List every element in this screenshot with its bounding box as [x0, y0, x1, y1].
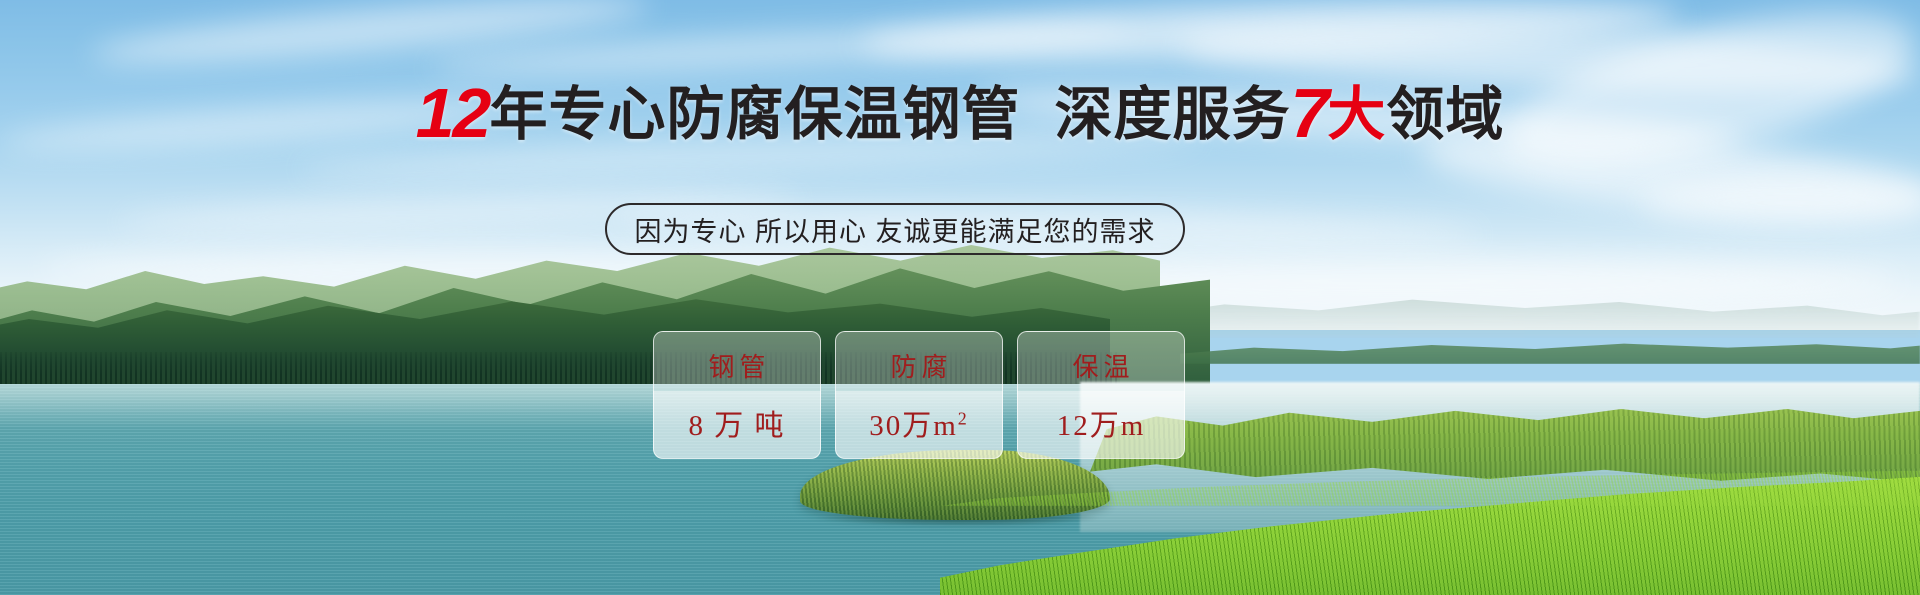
- stat-card-steel-pipe[interactable]: 钢管 8 万 吨: [653, 331, 821, 459]
- headline-text-secondary: 深度服务: [1054, 82, 1290, 147]
- sky-background: [0, 0, 1920, 330]
- stat-label: 钢管: [703, 347, 770, 384]
- hero-banner: 12年专心防腐保温钢管深度服务7大领域 因为专心 所以用心 友诚更能满足您的需求…: [0, 0, 1920, 595]
- stat-label: 防腐: [885, 347, 952, 384]
- stat-value-text: 30万m: [869, 410, 958, 442]
- headline-highlight-word: 大: [1327, 82, 1386, 147]
- headline-text-tail: 领域: [1386, 82, 1504, 147]
- stat-value: 8 万 吨: [688, 402, 785, 444]
- subtitle-text: 因为专心 所以用心 友诚更能满足您的需求: [634, 210, 1155, 249]
- stat-value: 12万m: [1057, 402, 1146, 444]
- stat-value-superscript: 2: [958, 408, 969, 428]
- stat-card-anticorrosion[interactable]: 防腐 30万m2: [835, 331, 1003, 459]
- stat-value: 30万m2: [869, 402, 969, 444]
- stat-card-insulation[interactable]: 保温 12万m: [1017, 331, 1185, 459]
- stat-box-group: 钢管 8 万 吨 防腐 30万m2 保温 12万m: [653, 331, 1185, 459]
- banner-headline: 12年专心防腐保温钢管深度服务7大领域: [0, 78, 1920, 148]
- stat-value-text: 12万m: [1057, 410, 1146, 442]
- subtitle-pill: 因为专心 所以用心 友诚更能满足您的需求: [605, 203, 1185, 255]
- stat-value-text: 8 万 吨: [688, 410, 785, 442]
- headline-years-number: 12: [416, 74, 490, 152]
- headline-text-primary: 年专心防腐保温钢管: [489, 82, 1020, 147]
- stat-label: 保温: [1067, 347, 1134, 384]
- headline-fields-number: 7: [1290, 74, 1327, 152]
